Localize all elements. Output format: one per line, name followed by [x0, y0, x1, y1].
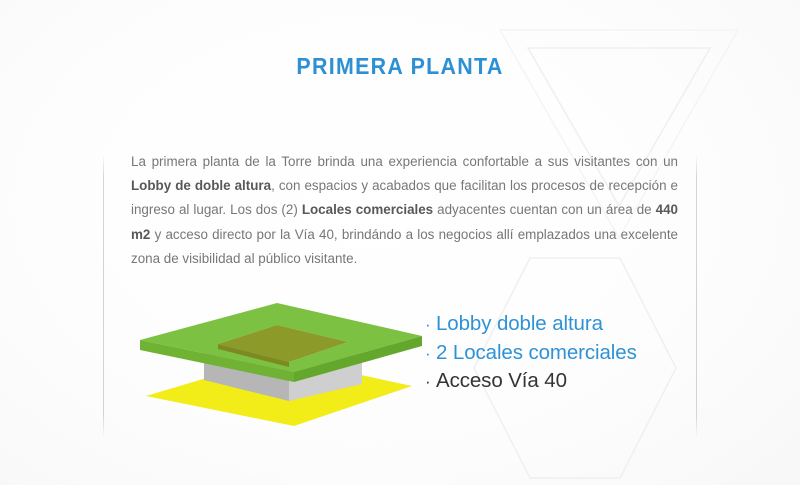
paragraph-emphasis: Locales comerciales	[302, 202, 433, 217]
isometric-floor-diagram	[134, 298, 424, 426]
floor-plate-layer	[140, 303, 422, 382]
paragraph-run: La primera planta de la Torre brinda una…	[131, 154, 678, 169]
paragraph-emphasis: Lobby de doble altura	[131, 178, 271, 193]
list-item: · 2 Locales comerciales	[425, 339, 690, 368]
bullet-dot-icon: ·	[425, 311, 436, 339]
right-rule	[696, 154, 697, 438]
list-item-label: 2 Locales comerciales	[436, 339, 637, 367]
list-item: · Acceso Vía 40	[425, 367, 690, 396]
description-paragraph: La primera planta de la Torre brinda una…	[131, 150, 678, 271]
bullet-dot-icon: ·	[425, 340, 436, 368]
list-item-label: Acceso Vía 40	[436, 367, 567, 395]
list-item: · Lobby doble altura	[425, 310, 690, 339]
bullet-dot-icon: ·	[425, 368, 436, 396]
paragraph-run: adyacentes cuentan con un área de	[433, 202, 656, 217]
feature-list: · Lobby doble altura · 2 Locales comerci…	[425, 310, 690, 396]
page-title: PRIMERA PLANTA	[28, 53, 772, 80]
left-rule	[103, 154, 104, 438]
slide-canvas: PRIMERA PLANTA La primera planta de la T…	[0, 0, 800, 485]
paragraph-run: y acceso directo por la Vía 40, brindánd…	[131, 227, 678, 266]
list-item-label: Lobby doble altura	[436, 310, 603, 338]
